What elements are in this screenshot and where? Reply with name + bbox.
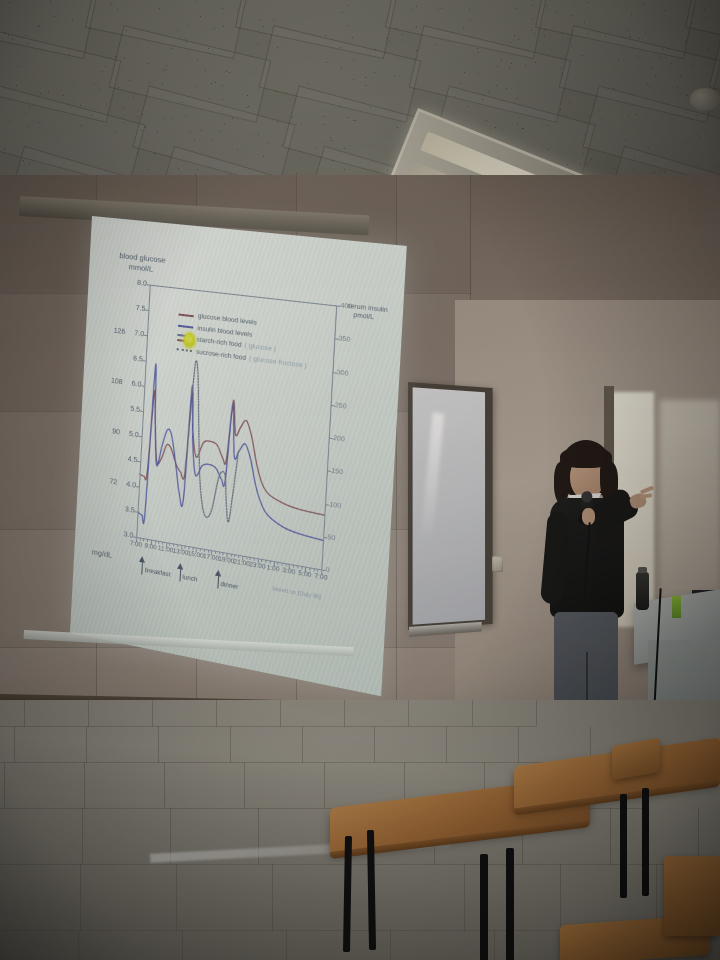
ceiling-texture — [544, 29, 545, 30]
ceiling-texture — [178, 168, 179, 169]
ceiling-texture — [344, 169, 345, 170]
x-tick-label: 19:00 — [218, 555, 234, 565]
ceiling-texture — [185, 116, 186, 117]
floor-tile — [176, 864, 273, 931]
ceiling-texture — [591, 159, 592, 160]
ceiling-texture — [416, 50, 417, 51]
ceiling-texture — [580, 164, 581, 165]
ceiling-texture — [263, 156, 264, 157]
ceiling-texture — [584, 134, 585, 135]
ceiling-texture — [325, 35, 326, 36]
ceiling-texture — [562, 33, 563, 34]
ceiling-texture — [94, 83, 95, 84]
ceiling-texture — [246, 107, 247, 108]
smoke-detector-icon — [690, 88, 720, 110]
ceiling-texture — [691, 65, 692, 66]
ceiling-texture — [237, 9, 238, 10]
series-insulin — [137, 363, 332, 555]
ceiling-texture — [9, 121, 10, 122]
floor-tile — [446, 726, 519, 763]
x-tick-label: 7:00 — [130, 540, 142, 549]
ceiling-texture — [118, 87, 119, 88]
desk-leg — [506, 848, 514, 960]
ceiling-texture — [211, 83, 212, 84]
ceiling-texture — [145, 142, 146, 143]
ceiling-texture — [72, 19, 73, 20]
ceiling-texture — [478, 73, 479, 74]
wall-panel — [0, 175, 97, 294]
ceiling-texture — [402, 34, 403, 35]
ceiling-texture — [706, 17, 707, 18]
ceiling-texture — [655, 76, 656, 77]
ceiling-texture — [81, 125, 82, 126]
ceiling-texture — [588, 2, 589, 3]
ceiling-texture — [454, 96, 455, 97]
meal-arrow-stem — [142, 562, 144, 574]
y-tick-label: 5.5 — [130, 406, 140, 414]
ceiling-texture — [50, 1, 51, 2]
ceiling-texture — [660, 57, 661, 58]
ceiling-texture — [389, 41, 390, 42]
ceiling-texture — [267, 142, 268, 143]
ceiling-texture — [105, 66, 106, 67]
green-label — [672, 596, 681, 618]
ceiling-texture — [663, 49, 664, 50]
ceiling-texture — [23, 160, 24, 161]
ceiling-texture — [281, 145, 282, 146]
ceiling-texture — [477, 48, 478, 49]
ceiling-texture — [490, 133, 491, 134]
ceiling-texture — [102, 71, 103, 72]
ceiling-texture — [395, 28, 396, 29]
ceiling-texture — [411, 9, 412, 10]
ceiling-texture — [546, 5, 547, 6]
y-tick-label: 4.5 — [127, 456, 137, 465]
ceiling-texture — [106, 105, 107, 106]
ceiling-texture — [91, 115, 92, 116]
ceiling-texture — [353, 60, 354, 61]
ceiling-texture — [669, 22, 670, 23]
x-tick-label: 9:00 — [144, 542, 156, 551]
ceiling-texture — [691, 119, 692, 120]
ceiling-texture — [344, 148, 345, 149]
y-tick-label: 3.5 — [125, 506, 135, 515]
right-tick-label: 100 — [329, 501, 341, 510]
floor-tile — [374, 726, 447, 763]
ceiling-texture — [566, 115, 567, 116]
ceiling-texture — [292, 117, 293, 118]
ceiling-texture — [556, 11, 557, 12]
ceiling-texture — [190, 132, 191, 133]
ceiling-texture — [123, 122, 124, 123]
mgdl-tick-label: 72 — [109, 478, 117, 486]
ceiling-texture — [223, 26, 224, 27]
ceiling-texture — [16, 85, 17, 86]
ceiling-texture — [347, 25, 348, 26]
x-tick-label: 23:00 — [249, 561, 266, 571]
ceiling-texture — [572, 15, 573, 16]
right-axis-title-line2: pmol/L — [353, 312, 374, 323]
ceiling-texture — [182, 102, 183, 103]
floor-tile — [302, 726, 375, 763]
right-tick-label: 250 — [335, 402, 347, 411]
ceiling-texture — [201, 130, 202, 131]
ceiling-texture — [370, 107, 371, 108]
ceiling-texture — [208, 48, 209, 49]
x-tick-label: 17:00 — [203, 553, 219, 563]
ceiling-texture — [5, 32, 6, 33]
ceiling-texture — [219, 131, 220, 132]
floor-tile — [216, 700, 281, 727]
ceiling-texture — [148, 169, 149, 170]
ceiling-texture — [129, 80, 130, 81]
ceiling-texture — [375, 49, 376, 50]
ceiling-texture — [224, 124, 225, 125]
ceiling-texture — [634, 157, 635, 158]
ceiling-texture — [209, 98, 210, 99]
ceiling-texture — [273, 19, 274, 20]
ceiling-texture — [353, 79, 354, 80]
ceiling-texture — [331, 140, 332, 141]
ceiling-texture — [516, 8, 517, 9]
ceiling-texture — [215, 82, 216, 83]
ceiling-texture — [614, 168, 615, 169]
ceiling-texture — [90, 28, 91, 29]
ceiling-texture — [697, 134, 698, 135]
floor-tile — [244, 762, 325, 809]
ceiling-texture — [699, 137, 700, 138]
ceiling-texture — [80, 105, 81, 106]
mgdl-tick-label: 108 — [111, 378, 123, 387]
ceiling-texture — [532, 19, 533, 20]
ceiling-texture — [194, 140, 195, 141]
ceiling-texture — [123, 107, 124, 108]
ceiling-texture — [247, 95, 248, 96]
whiteboard — [408, 382, 493, 630]
right-tick-label: 200 — [333, 435, 345, 444]
ceiling-texture — [18, 66, 19, 67]
ceiling-texture — [342, 12, 343, 13]
ceiling-texture — [525, 65, 526, 66]
desk-leg — [343, 836, 352, 952]
ceiling-texture — [482, 99, 483, 100]
mgdl-tick-label: 126 — [114, 328, 126, 336]
y-tick-label: 4.0 — [126, 481, 136, 490]
ceiling-tile — [685, 0, 720, 59]
ceiling-texture — [63, 95, 64, 96]
ceiling-texture — [544, 35, 545, 36]
x-tick-label: 1:00 — [266, 564, 279, 574]
ceiling-texture — [470, 20, 471, 21]
ceiling-texture — [355, 120, 356, 121]
x-tick-label: 3:00 — [282, 567, 295, 577]
floor-tile — [344, 700, 409, 727]
ceiling-texture — [704, 9, 705, 10]
ceiling-texture — [660, 170, 661, 171]
ceiling-texture — [687, 95, 688, 96]
mgdl-tick-label: 90 — [112, 428, 120, 436]
y-tick-label: 3.0 — [123, 531, 133, 540]
ceiling-texture — [717, 166, 718, 167]
ceiling-texture — [330, 137, 331, 138]
ceiling-texture — [651, 68, 652, 69]
ceiling-texture — [38, 26, 39, 27]
ceiling-texture — [4, 149, 5, 150]
lecture-room-photo: blood glucose mmol/L serum insulin pmol/… — [0, 0, 720, 960]
meal-arrow-stem — [179, 569, 181, 581]
ceiling-texture — [166, 65, 167, 66]
legend-label-insulin: insulin blood levels — [197, 324, 252, 338]
floor-tile — [230, 726, 303, 763]
ceiling-texture — [248, 106, 249, 107]
ceiling-texture — [511, 63, 512, 64]
ceiling-texture — [436, 44, 437, 45]
floor-tile — [84, 762, 165, 809]
ceiling-texture — [142, 114, 143, 115]
ceiling-texture — [185, 38, 186, 39]
y-tick-label: 7.0 — [134, 330, 144, 338]
ceiling-texture — [680, 75, 681, 76]
ceiling-texture — [347, 5, 348, 6]
ceiling-texture — [671, 63, 672, 64]
bottle-cap — [638, 567, 647, 573]
ceiling-texture — [137, 116, 138, 117]
ceiling-texture — [164, 118, 165, 119]
ceiling-texture — [9, 2, 10, 3]
floor-tile — [86, 726, 159, 763]
ceiling-texture — [628, 115, 629, 116]
ceiling-texture — [387, 170, 388, 171]
ceiling-texture — [126, 30, 127, 31]
x-tick-label: 13:00 — [172, 547, 188, 557]
ceiling-texture — [111, 4, 112, 5]
ceiling-texture — [188, 25, 189, 26]
ceiling-texture — [697, 115, 698, 116]
ceiling-texture — [497, 66, 498, 67]
ceiling-texture — [664, 171, 665, 172]
ceiling-texture — [647, 83, 648, 84]
ceiling-texture — [438, 9, 439, 10]
ceiling-texture — [141, 130, 142, 131]
ceiling-texture — [598, 110, 599, 111]
desk-leg — [480, 854, 488, 960]
ceiling-texture — [137, 153, 138, 154]
meal-label: lunch — [182, 574, 197, 584]
water-bottle — [636, 572, 649, 610]
ceiling-texture — [332, 160, 333, 161]
ceiling-texture — [523, 128, 524, 129]
ceiling-texture — [531, 30, 532, 31]
ceiling-texture — [133, 97, 134, 98]
ceiling-texture — [441, 8, 442, 9]
ceiling-texture — [196, 1, 197, 2]
ceiling-texture — [171, 48, 172, 49]
ceiling-texture — [316, 147, 317, 148]
ceiling-texture — [567, 164, 568, 165]
ceiling-texture — [582, 55, 583, 56]
legend-sublabel-sucrose: ( glucose-fructose ) — [249, 355, 307, 370]
ceiling-texture — [200, 16, 201, 17]
ceiling-texture — [506, 88, 507, 89]
floor-tile — [408, 700, 473, 727]
meal-label: breakfast — [145, 567, 171, 579]
ceiling-texture — [488, 91, 489, 92]
ceiling-texture — [509, 68, 510, 69]
ceiling-texture — [394, 76, 395, 77]
ceiling-texture — [588, 115, 589, 116]
ceiling-texture — [258, 134, 259, 135]
mgdl-unit-label: mg/dL — [92, 547, 113, 560]
ceiling-texture — [416, 6, 417, 7]
ceiling-texture — [159, 8, 160, 9]
ceiling-texture — [25, 113, 26, 114]
ceiling-texture — [99, 89, 100, 90]
power-outlet-icon — [492, 556, 503, 572]
ceiling-texture — [157, 131, 158, 132]
ceiling-texture — [547, 149, 548, 150]
ceiling-texture — [478, 52, 479, 53]
ceiling-texture — [162, 84, 163, 85]
ceiling-texture — [397, 127, 398, 128]
legend-label-sucrose: sucrose-rich food — [196, 348, 246, 362]
ceiling-texture — [260, 20, 261, 21]
ceiling-texture — [710, 65, 711, 66]
ceiling-texture — [117, 9, 118, 10]
ceiling-texture — [276, 91, 277, 92]
floor-tile — [152, 700, 217, 727]
y-tick-label: 8.0 — [137, 280, 147, 288]
ceiling-texture — [584, 22, 585, 23]
ceiling-texture — [341, 67, 342, 68]
chair-back — [664, 856, 720, 936]
x-tick-label: 7:00 — [314, 572, 328, 582]
y-tick-label: 6.0 — [132, 380, 142, 388]
y-tick-label: 6.5 — [133, 355, 143, 363]
ceiling-texture — [29, 163, 30, 164]
right-tick-label: 350 — [338, 335, 350, 344]
ceiling-texture — [685, 40, 686, 41]
legend-sublabel-starch: ( glucose ) — [245, 342, 276, 353]
ceiling-texture — [510, 42, 511, 43]
floor-tile — [14, 726, 87, 763]
ceiling-texture — [40, 93, 41, 94]
legend-label-starch: starch-rich food — [196, 336, 241, 349]
ceiling-texture — [467, 106, 468, 107]
x-tick-label: 5:00 — [298, 570, 311, 580]
right-tick-label: 400 — [340, 302, 352, 311]
ceiling-texture — [386, 38, 387, 39]
ceiling-texture — [613, 88, 614, 89]
ceiling-texture — [348, 117, 349, 118]
ceiling-texture — [12, 39, 13, 40]
meal-arrow-stem — [217, 576, 219, 588]
ceiling-texture — [172, 118, 173, 119]
ceiling-texture — [232, 118, 233, 119]
ceiling-texture — [277, 47, 278, 48]
ceiling-texture — [469, 9, 470, 10]
ceiling-texture — [625, 139, 626, 140]
ceiling-texture — [629, 37, 630, 38]
ceiling-texture — [677, 87, 678, 88]
ceiling-texture — [562, 73, 563, 74]
ceiling-texture — [263, 26, 264, 27]
ceiling-texture — [601, 118, 602, 119]
ceiling-texture — [464, 72, 465, 73]
ceiling-texture — [323, 124, 324, 125]
ceiling-texture — [560, 109, 561, 110]
ceiling-texture — [229, 72, 230, 73]
ceiling-texture — [571, 46, 572, 47]
ceiling-texture — [605, 36, 606, 37]
ceiling-texture — [631, 14, 632, 15]
floor-tile — [0, 808, 83, 865]
ceiling-texture — [353, 120, 354, 121]
ceiling-texture — [222, 99, 223, 100]
legend-swatch-insulin — [178, 325, 193, 329]
floor-tile — [158, 726, 231, 763]
floor-tile — [4, 762, 85, 809]
right-tick-label: 50 — [327, 534, 335, 543]
ceiling-texture — [560, 68, 561, 69]
floor-tile — [0, 930, 79, 960]
source-note: based on [Daly 98] — [272, 586, 321, 602]
ceiling-texture — [639, 38, 640, 39]
ceiling-texture — [514, 35, 515, 36]
ceiling-texture — [374, 72, 375, 73]
ceiling-texture — [301, 124, 302, 125]
ceiling-texture — [226, 71, 227, 72]
ceiling-texture — [587, 33, 588, 34]
ceiling-texture — [460, 83, 461, 84]
ceiling-texture — [222, 8, 223, 9]
ceiling-texture — [691, 23, 692, 24]
ceiling-texture — [535, 62, 536, 63]
ceiling-texture — [308, 83, 309, 84]
ceiling-texture — [638, 57, 639, 58]
ceiling-texture — [69, 54, 70, 55]
ceiling-texture — [38, 122, 39, 123]
desk-leg — [620, 794, 627, 898]
ceiling-texture — [416, 26, 417, 27]
ceiling-texture — [686, 141, 687, 142]
ceiling-texture — [165, 69, 166, 70]
floor-tile — [80, 864, 177, 931]
y-axis-title-line2: mmol/L — [128, 262, 153, 274]
ceiling-texture — [205, 70, 206, 71]
ceiling-texture — [496, 85, 497, 86]
ceiling-texture — [517, 123, 518, 124]
x-tick-label: 15:00 — [188, 550, 204, 560]
ceiling-texture — [569, 102, 570, 103]
window-glow — [660, 400, 720, 610]
ceiling-texture — [177, 30, 178, 31]
ceiling-texture — [212, 140, 213, 141]
ceiling-texture — [237, 149, 238, 150]
ceiling-texture — [522, 128, 523, 129]
wall-panel — [396, 175, 471, 294]
ceiling-texture — [257, 44, 258, 45]
ceiling-texture — [495, 127, 496, 128]
ceiling-texture — [48, 91, 49, 92]
ceiling-texture — [145, 127, 146, 128]
projection-screen: blood glucose mmol/L serum insulin pmol/… — [70, 216, 407, 696]
ceiling-texture — [643, 3, 644, 4]
ceiling-texture — [618, 59, 619, 60]
ceiling-texture — [654, 172, 655, 173]
floor-tile — [182, 930, 287, 960]
meal-label: dinner — [220, 581, 238, 591]
floor-tile — [0, 864, 81, 931]
